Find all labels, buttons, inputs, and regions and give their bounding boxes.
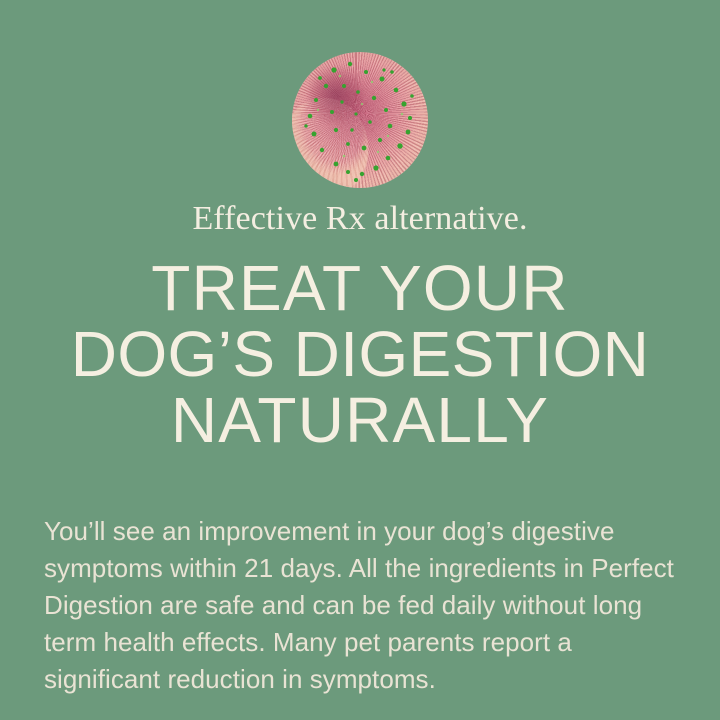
gut-villi-microscopy-circle-icon xyxy=(292,52,428,188)
headline-line-2: DOG’S DIGESTION xyxy=(0,321,720,387)
headline-line-1: TREAT YOUR xyxy=(0,255,720,321)
hero-image-container xyxy=(292,52,428,188)
promotional-ad-card: Effective Rx alternative. TREAT YOUR DOG… xyxy=(0,0,720,720)
hero-image-vignette xyxy=(292,52,428,188)
headline-line-3: NATURALLY xyxy=(0,387,720,453)
body-paragraph: You’ll see an improvement in your dog’s … xyxy=(44,513,674,698)
page-title: TREAT YOUR DOG’S DIGESTION NATURALLY xyxy=(0,255,720,453)
tagline: Effective Rx alternative. xyxy=(0,199,720,239)
